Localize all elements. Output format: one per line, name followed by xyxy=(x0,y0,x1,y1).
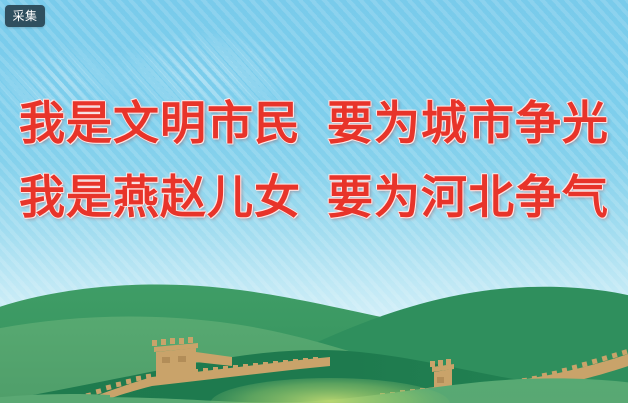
slogan-line-2-left: 我是燕赵儿女 xyxy=(19,170,301,224)
slogan-line-1-left: 我是文明市民 xyxy=(19,96,301,150)
slogan-line-1: 我是文明市民 要为城市争光 xyxy=(0,96,628,150)
slogan-line-2-right: 要为河北争气 xyxy=(327,170,609,224)
slogan-block: 我是文明市民 要为城市争光 我是燕赵儿女 要为河北争气 xyxy=(0,96,628,225)
capture-button[interactable]: 采集 xyxy=(5,5,45,27)
banner-screenshot: 我是文明市民 要为城市争光 我是燕赵儿女 要为河北争气 采集 xyxy=(0,0,628,403)
slogan-line-2: 我是燕赵儿女 要为河北争气 xyxy=(0,170,628,224)
slogan-line-1-right: 要为城市争光 xyxy=(327,96,609,150)
